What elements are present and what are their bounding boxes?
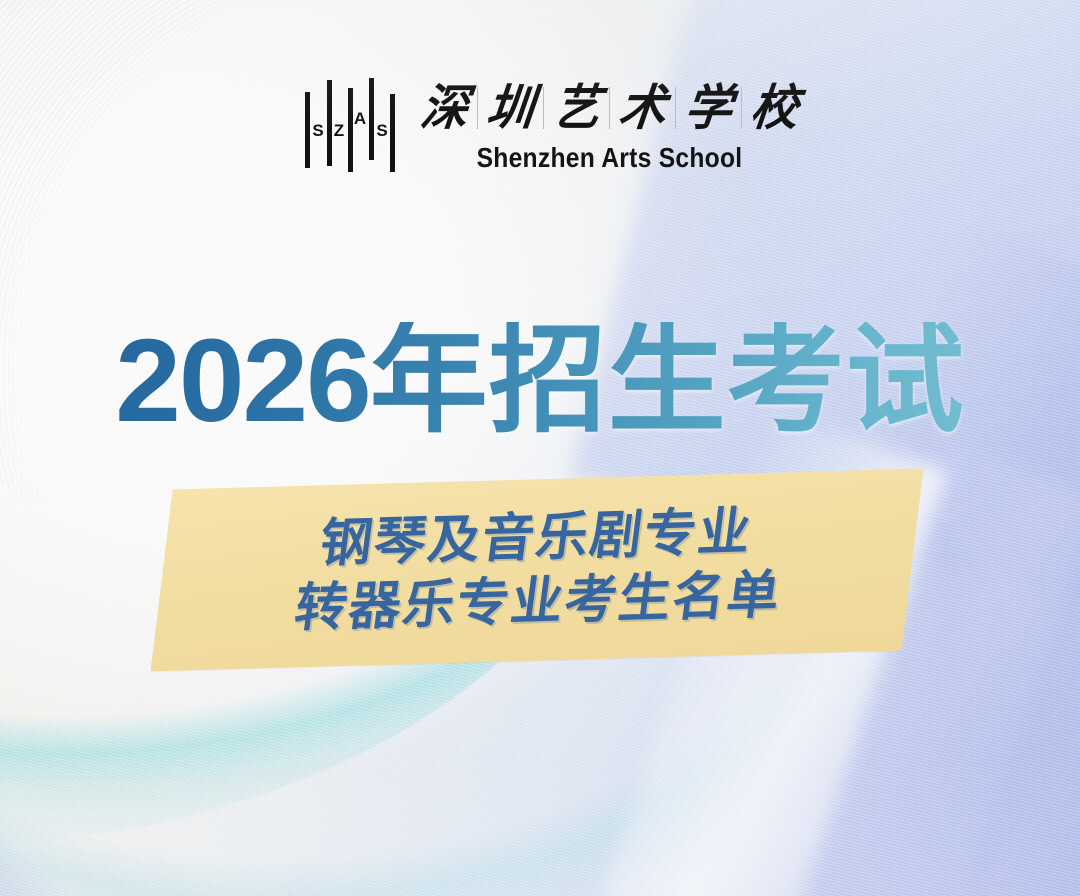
school-logo: S Z A S 深 圳 艺 术 学 校 Shenzhen Arts School <box>303 76 804 180</box>
name-separator <box>741 87 742 129</box>
page-title-year: 2026 <box>115 315 370 447</box>
svg-text:S: S <box>376 121 387 140</box>
school-name-char-5: 学 <box>676 84 740 133</box>
svg-text:Z: Z <box>334 121 344 140</box>
svg-text:A: A <box>354 109 366 128</box>
name-separator <box>543 87 544 129</box>
page-title-suffix: 年招生考试 <box>370 315 965 447</box>
school-name-char-2: 圳 <box>478 84 542 133</box>
page-title: 2026年招生考试 <box>0 322 1080 440</box>
school-name-block: 深 圳 艺 术 学 校 Shenzhen Arts School <box>415 76 804 174</box>
svg-text:S: S <box>312 121 323 140</box>
szas-monogram-icon: S Z A S <box>303 76 397 180</box>
poster-canvas: S Z A S 深 圳 艺 术 学 校 Shenzhen Arts School <box>0 0 1080 896</box>
school-name-char-1: 深 <box>412 84 476 133</box>
name-separator <box>675 87 676 129</box>
school-name-char-6: 校 <box>742 84 806 133</box>
name-separator <box>477 87 478 129</box>
school-name-english: Shenzhen Arts School <box>438 142 780 174</box>
name-separator <box>609 87 610 129</box>
school-name-char-3: 艺 <box>544 84 608 133</box>
school-name-char-4: 术 <box>610 84 674 133</box>
school-name-chinese: 深 圳 艺 术 学 校 <box>415 78 804 138</box>
